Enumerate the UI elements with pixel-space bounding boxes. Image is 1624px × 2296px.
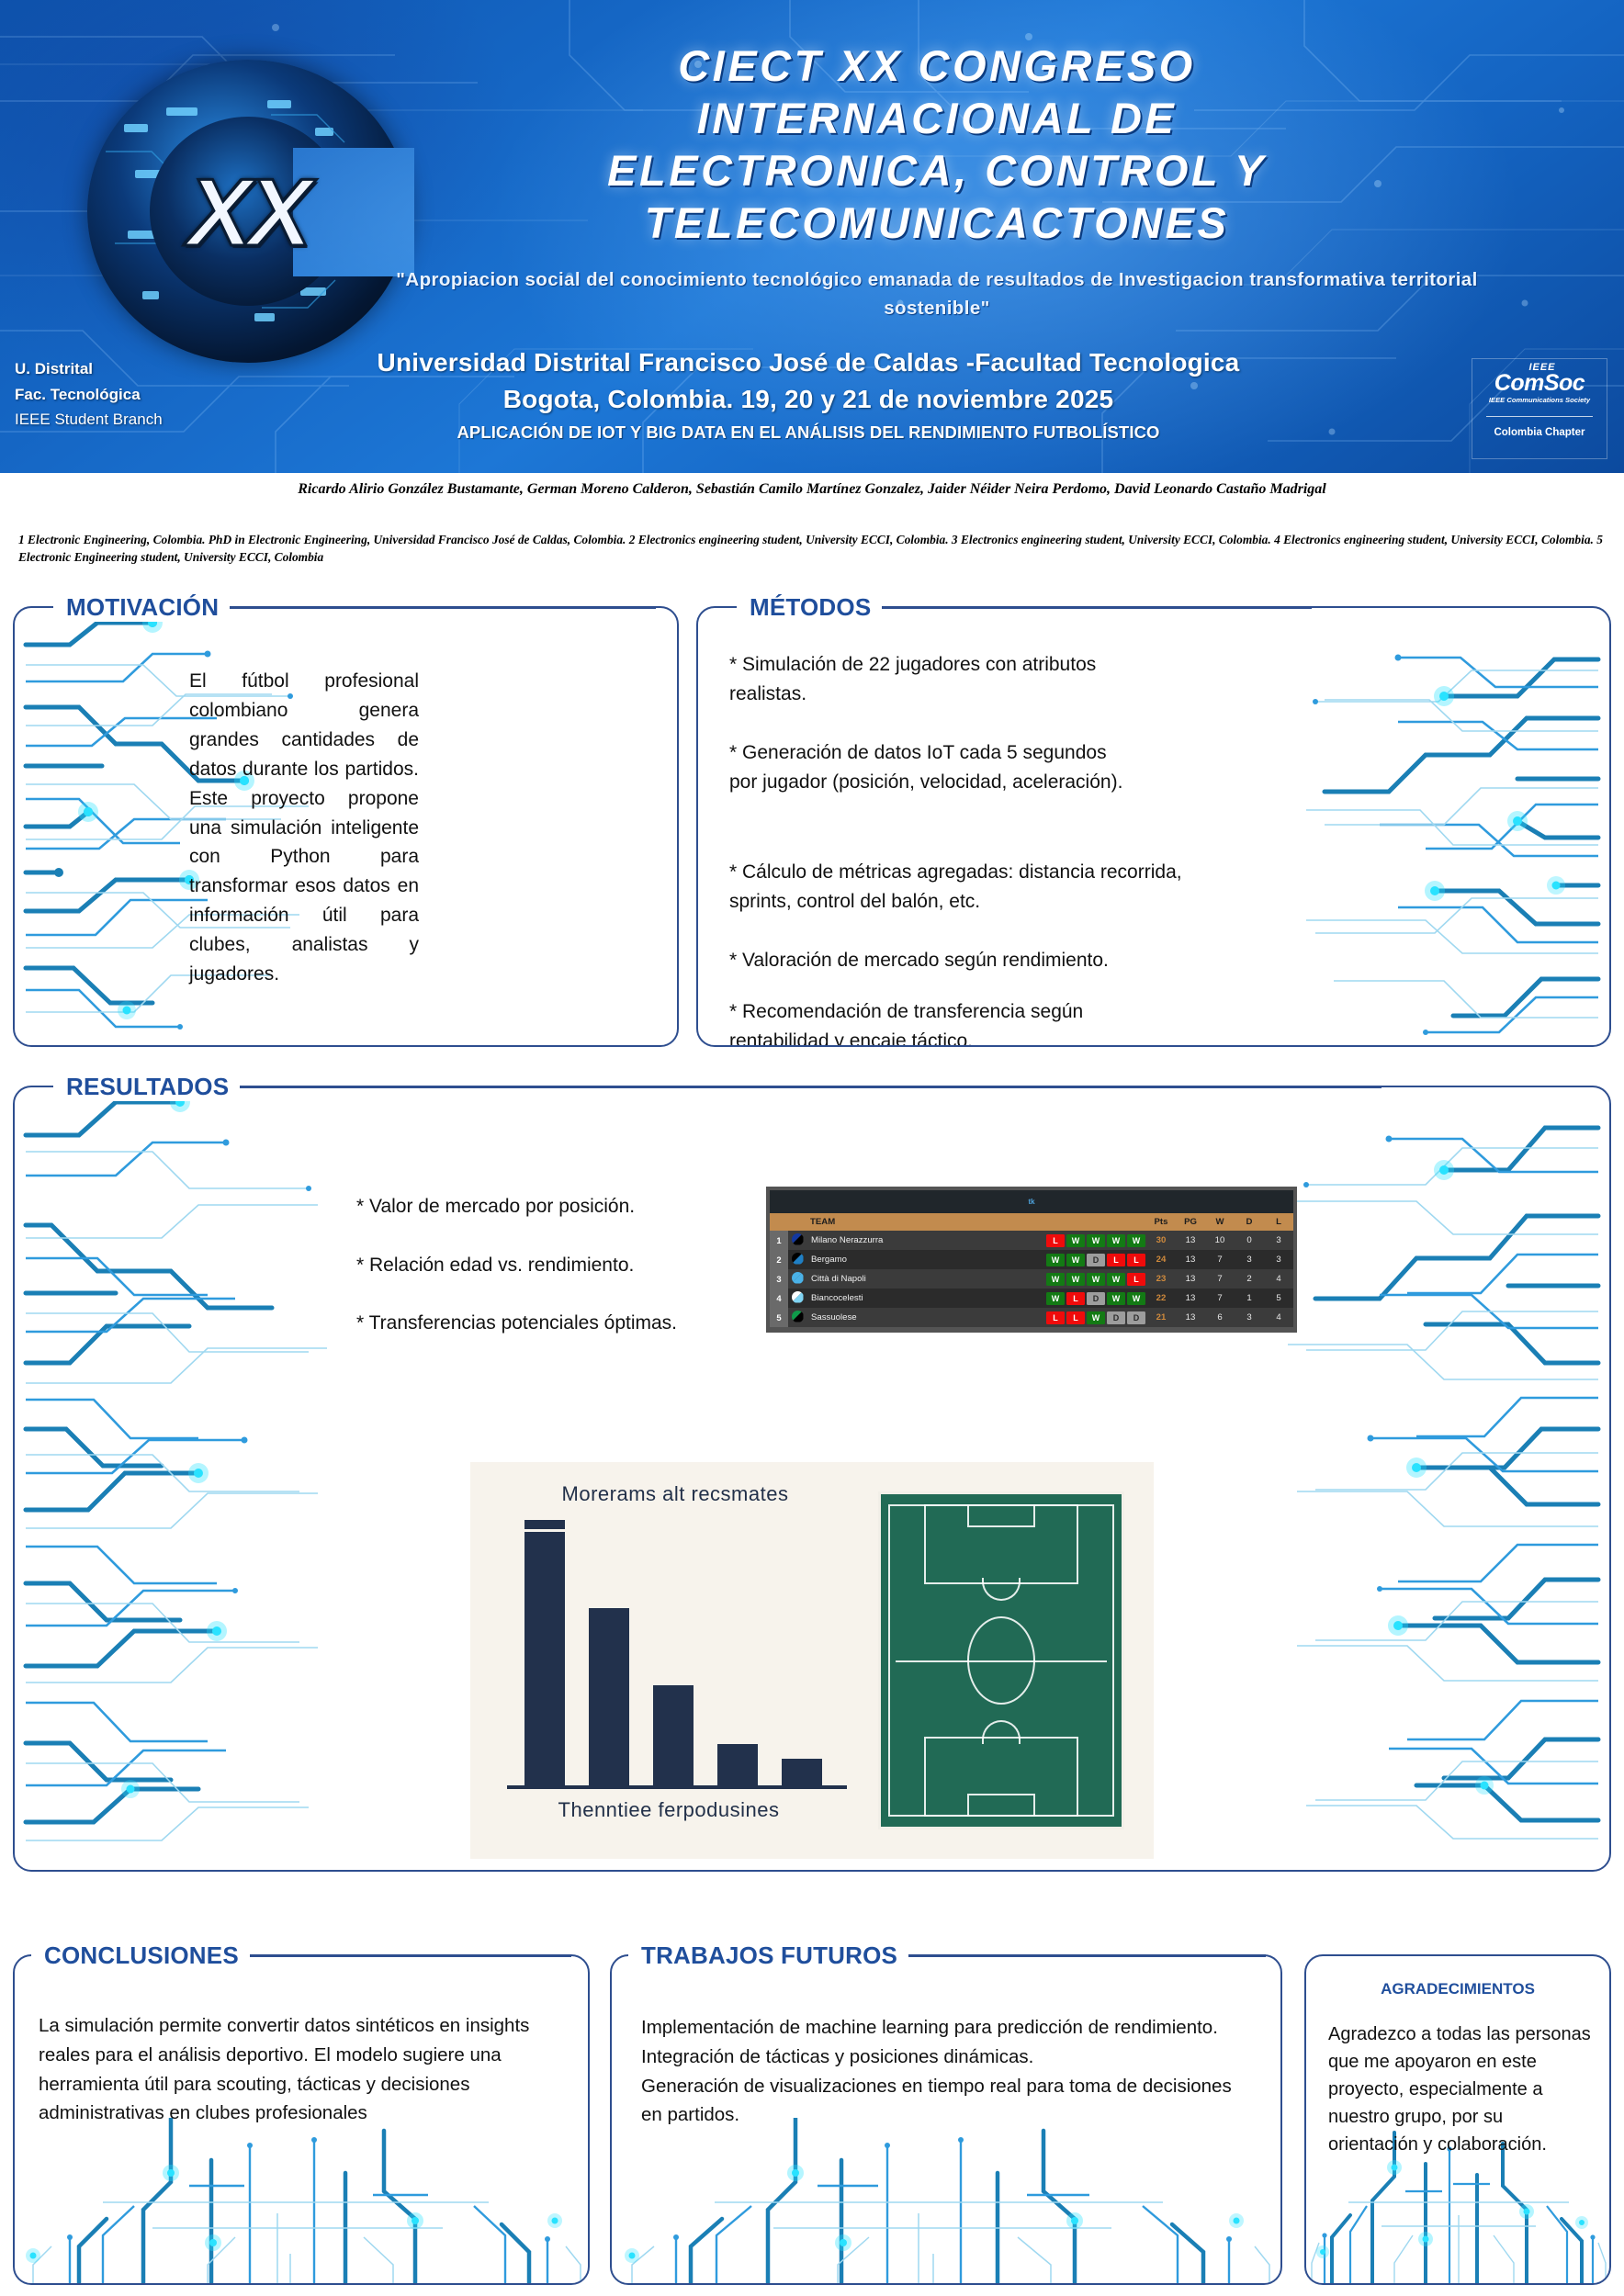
row-rank: 4 <box>770 1289 788 1308</box>
circuit-decoration-resultados-left <box>15 1087 382 1870</box>
row-team-name: Biancocelesti <box>806 1289 1045 1308</box>
team-badge-icon <box>788 1231 806 1250</box>
congress-title-line-2: INTERNACIONAL DE <box>404 93 1470 145</box>
metodos-bullet-5: * Recomendación de transferencia según r… <box>729 997 1170 1047</box>
row-form-1: W <box>1045 1289 1066 1308</box>
row-form-1: L <box>1045 1231 1066 1250</box>
row-pg: 13 <box>1176 1231 1205 1250</box>
row-form-1: L <box>1045 1308 1066 1327</box>
resultados-bullet-3: * Transferencias potenciales óptimas. <box>356 1309 788 1338</box>
row-form-2: W <box>1066 1231 1086 1250</box>
section-trabajos-futuros: Implementación de machine learning para … <box>610 1954 1282 2285</box>
pitch-goal-box-bottom <box>967 1794 1034 1817</box>
resultados-bullet-2: * Relación edad vs. rendimiento. <box>356 1251 788 1280</box>
results-figure: Morerams alt recsmates Thenntiee ferpodu… <box>470 1462 1154 1859</box>
trabajos-futuros-body: Implementación de machine learning para … <box>641 2013 1255 2130</box>
table-row[interactable]: 1Milano NerazzurraLWWWW30131003 <box>770 1231 1293 1250</box>
title-rule-metodos <box>871 606 1312 609</box>
section-agradecimientos: AGRADECIMIENTOS Agradezco a todas las pe… <box>1304 1954 1611 2285</box>
circuit-decoration-conclusiones <box>15 2118 588 2283</box>
table-row[interactable]: 5SassuoleseLLWDD2113634 <box>770 1308 1293 1327</box>
metodos-bullet-2: * Generación de datos IoT cada 5 segundo… <box>729 738 1133 797</box>
section-title-metodos: MÉTODOS <box>739 593 882 622</box>
row-form-1: W <box>1045 1269 1066 1289</box>
circuit-decoration-resultados-right <box>1242 1087 1609 1870</box>
row-d: 0 <box>1235 1231 1264 1250</box>
ciect-xx-logo: XX <box>87 60 409 363</box>
team-badge-icon <box>788 1308 806 1327</box>
row-rank: 1 <box>770 1231 788 1250</box>
table-row[interactable]: 2BergamoWWDLL2413733 <box>770 1250 1293 1269</box>
row-form-2: L <box>1066 1308 1086 1327</box>
congress-title-line-1: CIECT XX CONGRESO <box>404 40 1470 93</box>
row-pg: 13 <box>1176 1289 1205 1308</box>
motivacion-body: El fútbol profesional colombiano genera … <box>189 667 419 989</box>
organizer-faculty: Fac. Tecnológica <box>15 382 244 408</box>
comsoc-divider <box>1486 416 1593 417</box>
resultados-bullets: * Valor de mercado por posición. * Relac… <box>356 1192 788 1367</box>
pitch-goal-box-top <box>967 1504 1034 1527</box>
organizer-block: U. Distrital Fac. Tecnológica IEEE Stude… <box>15 356 244 433</box>
ieee-comsoc-logo: IEEE ComSoc IEEE Communications Society … <box>1472 358 1607 459</box>
row-team-name: Bergamo <box>806 1250 1045 1269</box>
congress-title-line-4: TELECOMUNICACTONES <box>404 197 1470 250</box>
chart-xlabel: Thenntiee ferpodusines <box>503 1798 834 1822</box>
row-rank: 3 <box>770 1269 788 1289</box>
row-rank: 2 <box>770 1250 788 1269</box>
affiliation-list: 1 Electronic Engineering, Colombia. PhD … <box>18 531 1607 567</box>
metodos-bullet-4: * Valoración de mercado según rendimient… <box>729 946 1244 975</box>
team-badge-icon <box>788 1269 806 1289</box>
bar-3 <box>653 1685 693 1787</box>
table-row[interactable]: 4BiancocelestiWLDWW2213715 <box>770 1289 1293 1308</box>
venue-university: Universidad Distrital Francisco José de … <box>184 344 1433 381</box>
row-w: 7 <box>1205 1250 1235 1269</box>
row-pts: 21 <box>1146 1308 1176 1327</box>
row-d: 2 <box>1235 1269 1264 1289</box>
section-title-trabajos-futuros: TRABAJOS FUTUROS <box>630 1941 908 1970</box>
col-header-team: TEAM <box>770 1213 1045 1231</box>
row-d: 3 <box>1235 1308 1264 1327</box>
standings-header-row: TEAM Pts PG W D L <box>770 1213 1293 1231</box>
row-rank: 5 <box>770 1308 788 1327</box>
row-form-4: W <box>1106 1289 1126 1308</box>
bar-1 <box>524 1532 564 1787</box>
row-pts: 24 <box>1146 1250 1176 1269</box>
soccer-pitch-diagram <box>878 1491 1124 1829</box>
row-form-5: W <box>1126 1231 1146 1250</box>
comsoc-chapter-text: Colombia Chapter <box>1494 427 1585 438</box>
row-team-name: Sassuolese <box>806 1308 1045 1327</box>
author-list: Ricardo Alirio González Bustamante, Germ… <box>0 481 1624 498</box>
logo-xx-text: XX <box>87 159 409 268</box>
circuit-decoration-metodos <box>1214 608 1609 1047</box>
row-l: 3 <box>1264 1250 1293 1269</box>
row-form-3: W <box>1086 1269 1106 1289</box>
organizer-student-branch: IEEE Student Branch <box>15 407 244 433</box>
col-header-l: L <box>1264 1213 1293 1231</box>
row-form-4: L <box>1106 1250 1126 1269</box>
row-w: 6 <box>1205 1308 1235 1327</box>
row-team-name: Milano Nerazzurra <box>806 1231 1045 1250</box>
standings-caption: tk <box>1028 1198 1034 1206</box>
row-w: 10 <box>1205 1231 1235 1250</box>
section-motivacion: El fútbol profesional colombiano genera … <box>13 606 679 1047</box>
team-badge-icon <box>788 1250 806 1269</box>
table-row[interactable]: 3Città di NapoliWWWWL2313724 <box>770 1269 1293 1289</box>
row-form-3: W <box>1086 1231 1106 1250</box>
metodos-bullet-3: * Cálculo de métricas agregadas: distanc… <box>729 858 1198 917</box>
col-header-pg: PG <box>1176 1213 1205 1231</box>
section-title-resultados: RESULTADOS <box>55 1073 240 1101</box>
row-form-1: W <box>1045 1250 1066 1269</box>
col-header-form <box>1045 1213 1146 1231</box>
team-badge-icon <box>788 1289 806 1308</box>
row-d: 3 <box>1235 1250 1264 1269</box>
bar-4 <box>717 1744 757 1787</box>
row-pg: 13 <box>1176 1269 1205 1289</box>
section-conclusiones: La simulación permite convertir datos si… <box>13 1954 590 2285</box>
congress-title: CIECT XX CONGRESO INTERNACIONAL DE ELECT… <box>404 40 1470 249</box>
row-form-3: D <box>1086 1250 1106 1269</box>
row-form-3: W <box>1086 1308 1106 1327</box>
row-form-5: L <box>1126 1250 1146 1269</box>
row-form-5: L <box>1126 1269 1146 1289</box>
comsoc-name-text: ComSoc <box>1494 372 1585 395</box>
bar-2 <box>589 1608 628 1787</box>
row-team-name: Città di Napoli <box>806 1269 1045 1289</box>
circuit-decoration-trabajos <box>612 2118 1280 2283</box>
congress-subtitle: "Apropiacion social del conocimiento tec… <box>395 266 1479 323</box>
conclusiones-body: La simulación permite convertir datos si… <box>39 2011 562 2128</box>
row-form-5: W <box>1126 1289 1146 1308</box>
section-metodos: * Simulación de 22 jugadores con atribut… <box>696 606 1611 1047</box>
comsoc-society-text: IEEE Communications Society <box>1489 396 1590 404</box>
section-title-motivacion: MOTIVACIÓN <box>55 593 230 622</box>
row-form-2: L <box>1066 1289 1086 1308</box>
conference-header-banner: XX CIECT XX CONGRESO INTERNACIONAL DE EL… <box>0 0 1624 473</box>
row-pg: 13 <box>1176 1308 1205 1327</box>
row-form-3: D <box>1086 1289 1106 1308</box>
row-form-4: W <box>1106 1231 1126 1250</box>
row-pts: 22 <box>1146 1289 1176 1308</box>
bar-5 <box>782 1759 821 1787</box>
row-form-2: W <box>1066 1250 1086 1269</box>
metodos-bullet-1: * Simulación de 22 jugadores con atribut… <box>729 650 1170 709</box>
trabajos-line-2: Integración de tácticas y posiciones din… <box>641 2043 1255 2072</box>
resultados-bullet-1: * Valor de mercado por posición. <box>356 1192 788 1221</box>
title-rule-conclusiones <box>195 1954 571 1957</box>
section-title-conclusiones: CONCLUSIONES <box>33 1941 250 1970</box>
row-pts: 30 <box>1146 1231 1176 1250</box>
congress-venue: Universidad Distrital Francisco José de … <box>184 344 1433 418</box>
bar-1-cap <box>524 1520 564 1532</box>
col-header-w: W <box>1205 1213 1235 1231</box>
agradecimientos-body: Agradezco a todas las personas que me ap… <box>1328 2020 1595 2158</box>
trabajos-line-3: Generación de visualizaciones en tiempo … <box>641 2072 1255 2131</box>
row-d: 1 <box>1235 1289 1264 1308</box>
row-form-4: D <box>1106 1308 1126 1327</box>
row-l: 5 <box>1264 1289 1293 1308</box>
venue-city-dates: Bogota, Colombia. 19, 20 y 21 de noviemb… <box>184 381 1433 418</box>
chart-title: Morerams alt recsmates <box>524 1482 827 1506</box>
row-l: 4 <box>1264 1308 1293 1327</box>
poster-paper-title: APLICACIÓN DE IOT Y BIG DATA EN EL ANÁLI… <box>202 422 1415 443</box>
row-w: 7 <box>1205 1269 1235 1289</box>
title-rule-motivacion <box>197 606 656 609</box>
row-l: 3 <box>1264 1231 1293 1250</box>
pitch-center-circle <box>967 1616 1035 1705</box>
chart-axis-line <box>507 1785 847 1789</box>
congress-title-line-3: ELECTRONICA, CONTROL Y <box>404 145 1470 197</box>
organizer-university: U. Distrital <box>15 356 244 382</box>
standings-caption-bar: tk <box>770 1190 1293 1213</box>
row-pts: 23 <box>1146 1269 1176 1289</box>
row-w: 7 <box>1205 1289 1235 1308</box>
col-header-d: D <box>1235 1213 1264 1231</box>
bar-chart-bars <box>513 1519 834 1787</box>
section-title-agradecimientos: AGRADECIMIENTOS <box>1306 1980 1609 1998</box>
row-form-5: D <box>1126 1308 1146 1327</box>
col-header-pts: Pts <box>1146 1213 1176 1231</box>
standings-table: TEAM Pts PG W D L 1Milano NerazzurraLWWW… <box>770 1213 1293 1327</box>
row-form-4: W <box>1106 1269 1126 1289</box>
row-pg: 13 <box>1176 1250 1205 1269</box>
trabajos-line-1: Implementación de machine learning para … <box>641 2013 1255 2043</box>
standings-table-widget: tk TEAM Pts PG W D L 1Milano NerazzurraL… <box>766 1187 1297 1333</box>
title-rule-resultados <box>206 1086 1382 1088</box>
row-l: 4 <box>1264 1269 1293 1289</box>
row-form-2: W <box>1066 1269 1086 1289</box>
